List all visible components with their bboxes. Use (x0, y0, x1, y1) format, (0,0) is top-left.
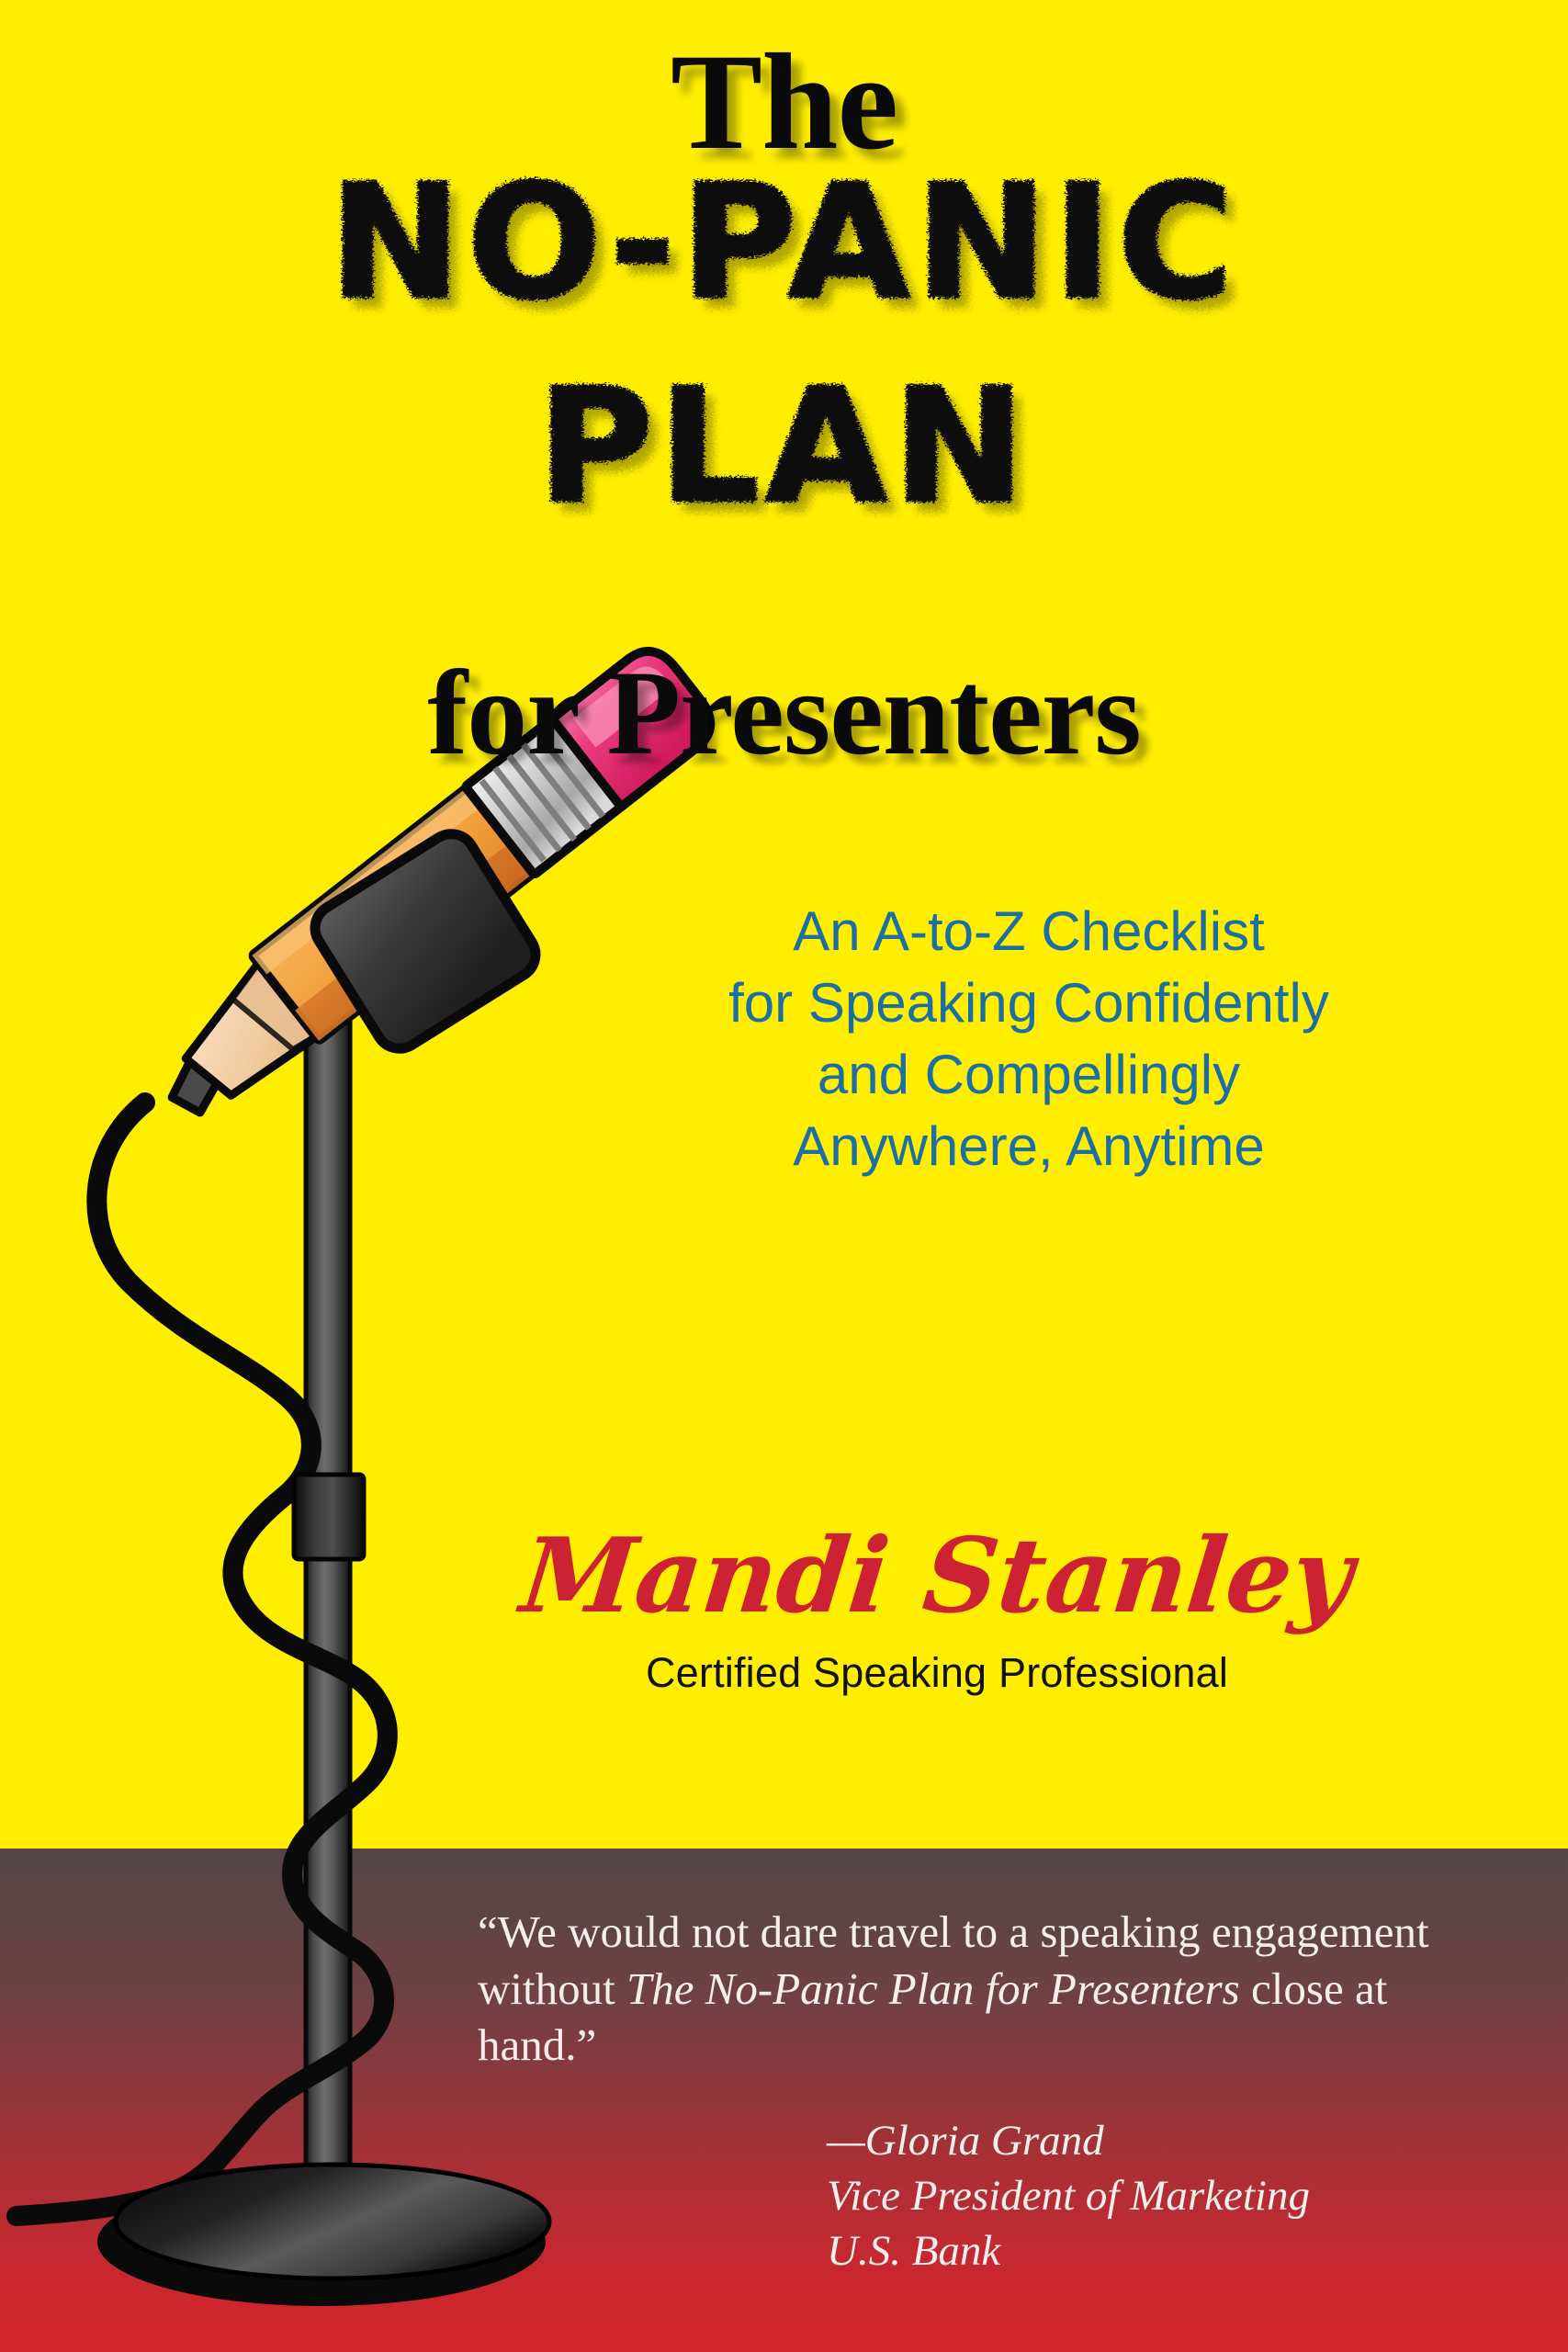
subtitle-block: An A-to-Z Checklist for Speaking Confide… (542, 896, 1516, 1182)
author-name: Mandi Stanley (472, 1525, 1402, 1628)
attribution-company: U.S. Bank (827, 2223, 1470, 2278)
author-credential: Certified Speaking Professional (478, 1652, 1396, 1693)
book-cover: The NO-PANIC PLAN for Presenters An A-to… (0, 0, 1568, 2352)
title-line-no-panic: NO-PANIC (0, 164, 1568, 322)
subtitle-line-4: Anywhere, Anytime (542, 1111, 1516, 1182)
testimonial-quote-book-title: The No-Panic Plan for Presenters (626, 1963, 1240, 2014)
subtitle-line-3: and Compellingly (542, 1039, 1516, 1111)
title-line-plan: PLAN (0, 367, 1568, 526)
subtitle-line-1: An A-to-Z Checklist (542, 896, 1516, 967)
attribution-name: —Gloria Grand (827, 2113, 1470, 2168)
testimonial-attribution: —Gloria Grand Vice President of Marketin… (827, 2113, 1470, 2278)
subtitle-line-2: for Speaking Confidently (542, 967, 1516, 1039)
testimonial-quote: “We would not dare travel to a speaking … (478, 1904, 1451, 2074)
title-line-for-presenters: for Presenters (0, 652, 1568, 774)
attribution-title: Vice President of Marketing (827, 2168, 1470, 2223)
